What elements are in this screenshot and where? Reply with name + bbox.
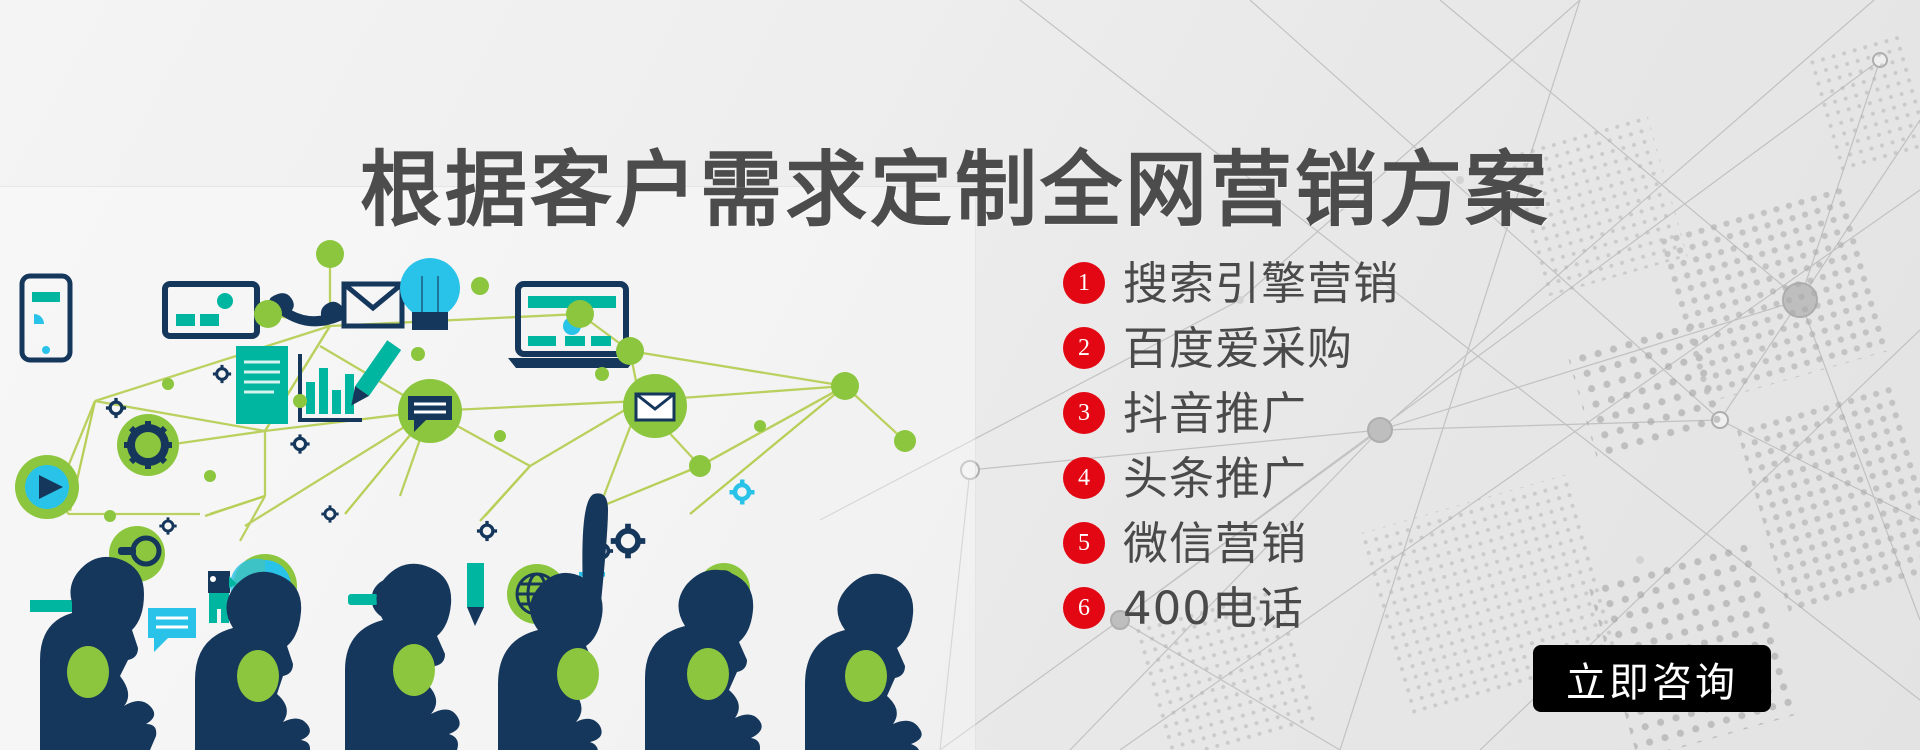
marketing-network-illustration: [0, 196, 975, 750]
smartphone-icon: [22, 276, 70, 360]
list-item[interactable]: 2 百度爱采购: [1063, 323, 1399, 373]
list-item-number-badge: 4: [1063, 457, 1105, 499]
pencil-down-icon: [467, 563, 484, 626]
bar-chart-icon: [300, 354, 362, 420]
consult-now-button[interactable]: 立即咨询: [1533, 645, 1771, 712]
list-item-number-badge: 6: [1063, 587, 1105, 629]
list-item-label: 百度爱采购: [1123, 326, 1353, 371]
list-item-label: 头条推广: [1123, 456, 1307, 501]
document-icon: [236, 346, 288, 424]
mail-circle-icon: [623, 374, 687, 438]
list-item-label: 抖音推广: [1123, 391, 1307, 436]
list-item-number-badge: 2: [1063, 327, 1105, 369]
monitor-icon: [165, 284, 257, 336]
list-item[interactable]: 1 搜索引擎营销: [1063, 258, 1399, 308]
list-item-label: 搜索引擎营销: [1123, 261, 1399, 306]
play-button-icon: [15, 455, 79, 519]
list-item[interactable]: 5 微信营销: [1063, 518, 1399, 568]
list-item-label: 微信营销: [1123, 521, 1307, 566]
chat-bubble-icon: [398, 379, 462, 443]
gear-small-icon: [106, 365, 645, 562]
marketing-banner: 根据客户需求定制全网营销方案 1 搜索引擎营销 2 百度爱采购 3 抖音推广 4…: [0, 0, 1920, 750]
service-list: 1 搜索引擎营销 2 百度爱采购 3 抖音推广 4 头条推广 5 微信营销 6 …: [1063, 258, 1399, 648]
list-item-number-badge: 5: [1063, 522, 1105, 564]
list-item[interactable]: 6 400电话: [1063, 583, 1399, 633]
envelope-icon: [344, 284, 402, 326]
list-item[interactable]: 4 头条推广: [1063, 453, 1399, 503]
page-title: 根据客户需求定制全网营销方案: [360, 150, 1550, 232]
chat-bubble-small-icon: [148, 608, 196, 652]
gear-icon: [117, 414, 179, 476]
list-item[interactable]: 3 抖音推广: [1063, 388, 1399, 438]
list-item-number-badge: 1: [1063, 262, 1105, 304]
brain-node: [67, 644, 887, 702]
network-connector-lines: [60, 256, 905, 541]
list-item-number-badge: 3: [1063, 392, 1105, 434]
list-item-label: 400电话: [1123, 586, 1304, 631]
